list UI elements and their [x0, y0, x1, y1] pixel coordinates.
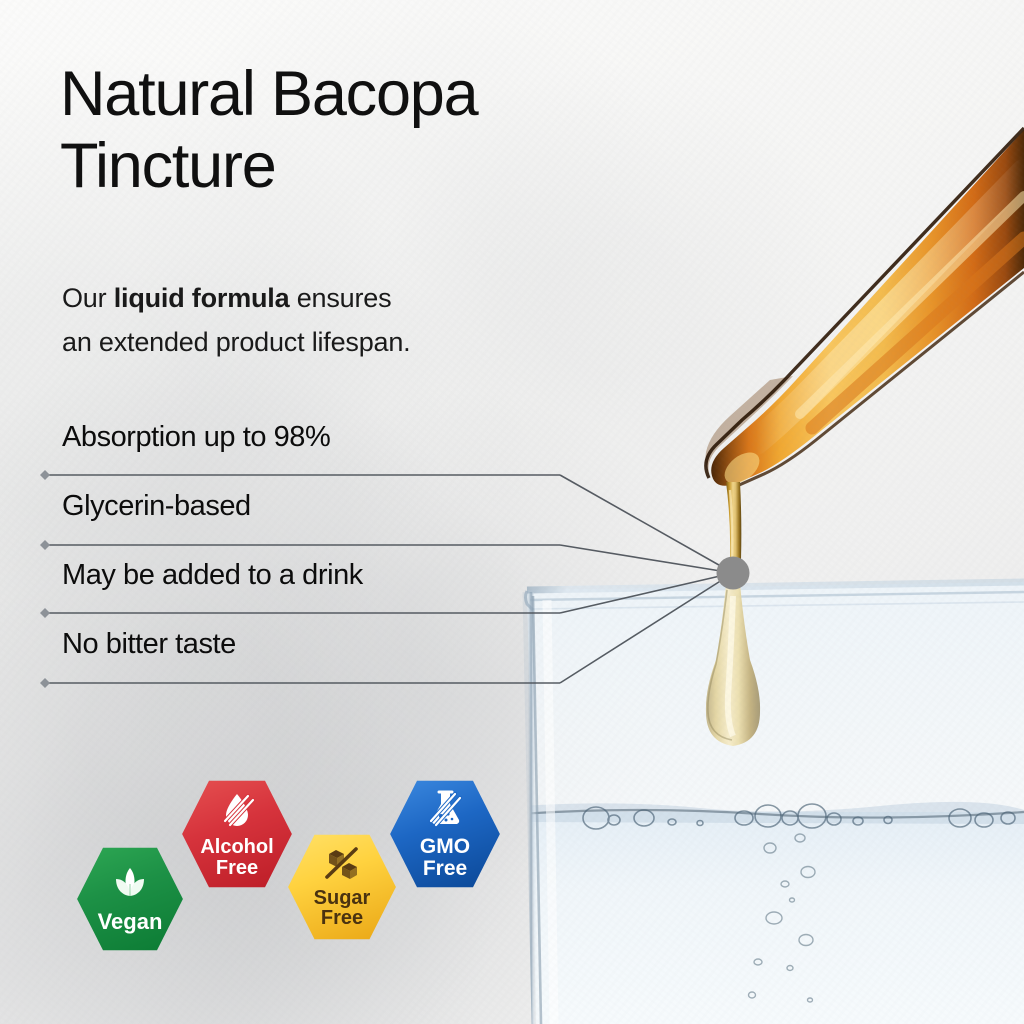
feature-label-drink: May be added to a drink [62, 559, 363, 592]
subtitle-line-2: an extended product lifespan. [62, 327, 410, 357]
badge-sugar-free-line2: Free [321, 908, 363, 929]
title-line-1: Natural Bacopa [60, 59, 477, 129]
infographic-canvas: Natural Bacopa Tincture Our liquid formu… [0, 0, 1024, 1024]
badge-gmo-free-line2: Free [423, 858, 467, 880]
badge-gmo-free-line1: GMO [420, 836, 470, 858]
page-title: Natural Bacopa Tincture [60, 58, 700, 203]
badge-alcohol-free-line1: Alcohol [200, 837, 273, 858]
flask-slash-icon [425, 789, 465, 834]
badge-sugar-free-line1: Sugar [314, 888, 371, 909]
subtitle-post: ensures [289, 283, 391, 313]
badge-alcohol-free-line2: Free [216, 858, 258, 879]
badge-vegan-label: Vegan [98, 911, 163, 934]
leaf-icon [109, 864, 151, 909]
subtitle-pre: Our [62, 283, 114, 313]
feature-label-absorption: Absorption up to 98% [62, 421, 330, 454]
subtitle: Our liquid formula ensures an extended p… [62, 276, 602, 364]
title-line-2: Tincture [60, 131, 276, 201]
feature-label-glycerin: Glycerin-based [62, 490, 251, 523]
sugar-cubes-slash-icon [323, 845, 361, 886]
droplet-slash-icon [217, 790, 257, 835]
feature-label-taste: No bitter taste [62, 628, 236, 661]
subtitle-emphasis: liquid formula [114, 283, 290, 313]
